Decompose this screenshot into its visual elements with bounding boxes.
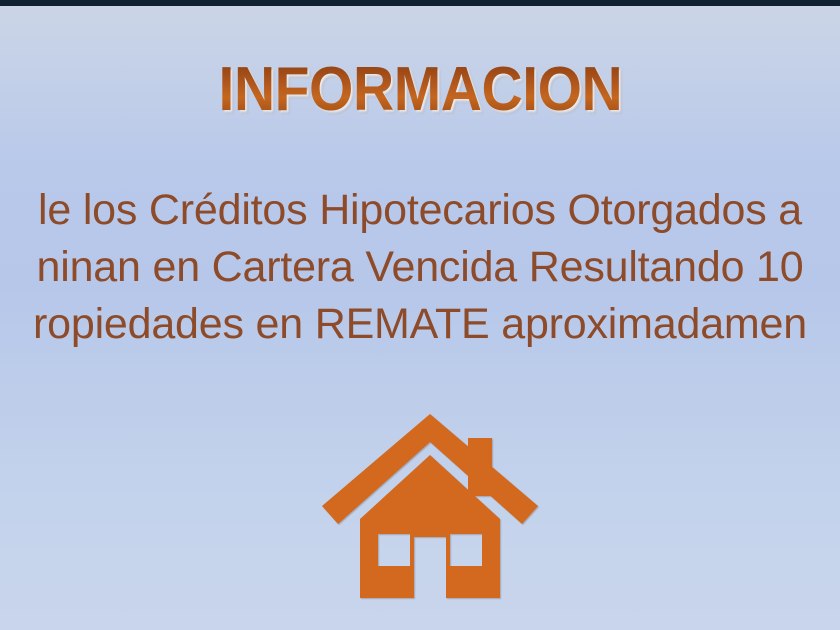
body-line-2: ninan en Cartera Vencida Resultando 10 bbox=[0, 239, 840, 296]
house-icon bbox=[322, 414, 538, 598]
presentation-slide: INFORMACION le los Créditos Hipotecarios… bbox=[0, 0, 840, 630]
top-edge-strip bbox=[0, 0, 840, 6]
body-line-3: ropiedades en REMATE aproximadamen bbox=[0, 296, 840, 353]
slide-title-row: INFORMACION bbox=[0, 55, 840, 125]
slide-body-text: le los Créditos Hipotecarios Otorgados a… bbox=[0, 182, 840, 353]
body-line-1: le los Créditos Hipotecarios Otorgados a bbox=[0, 182, 840, 239]
slide-title: INFORMACION bbox=[218, 59, 622, 121]
